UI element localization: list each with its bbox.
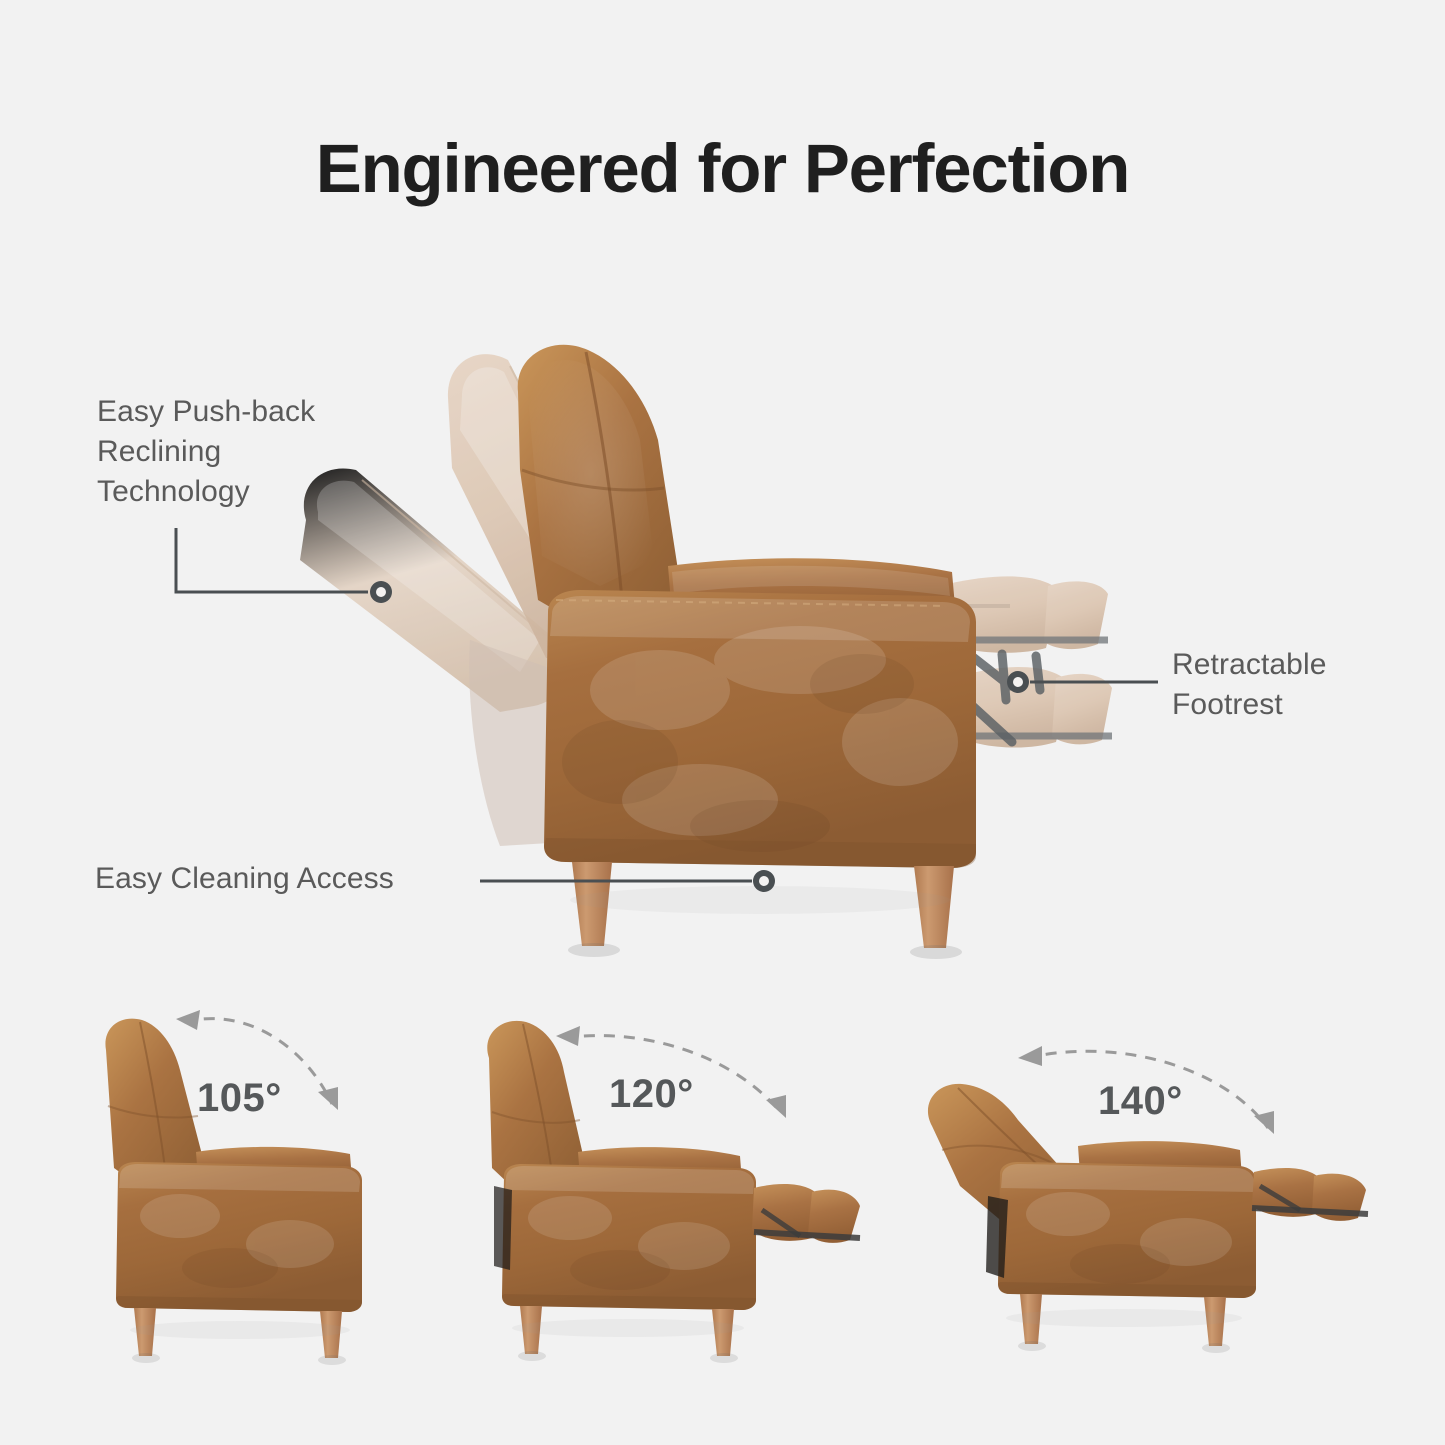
ghost-backrest-1 <box>300 468 566 712</box>
page-title: Engineered for Perfection <box>0 134 1445 203</box>
infographic-canvas: Engineered for Perfection <box>0 0 1445 1445</box>
floor-shadow <box>568 886 962 959</box>
angle-label-105: 105° <box>197 1076 282 1121</box>
chair-position-105 <box>105 1010 362 1365</box>
leader-cleaning-access <box>480 870 775 892</box>
callout-easy-cleaning-access: Easy Cleaning Access <box>95 859 394 899</box>
ghost-footrest-lower <box>952 667 1112 748</box>
angle-label-120: 120° <box>609 1072 694 1117</box>
leader-push-back <box>176 528 392 603</box>
solid-backrest <box>518 345 682 636</box>
angle-label-140: 140° <box>1098 1079 1183 1124</box>
chair-body-side <box>544 590 976 868</box>
ghost-seat-wedge <box>469 640 640 846</box>
seat-back-band <box>668 558 956 618</box>
callout-retractable-footrest: Retractable Footrest <box>1172 645 1327 725</box>
ghost-footrest-upper <box>944 576 1108 652</box>
leader-footrest <box>1007 671 1158 693</box>
footrest-extended-140 <box>1252 1168 1368 1221</box>
footrest-mechanism <box>964 650 1040 742</box>
chair-legs <box>572 862 954 948</box>
ghost-backrest-2 <box>448 354 635 662</box>
footrest-partial-120 <box>752 1184 860 1243</box>
callout-push-back-reclining: Easy Push-back Reclining Technology <box>97 392 315 512</box>
